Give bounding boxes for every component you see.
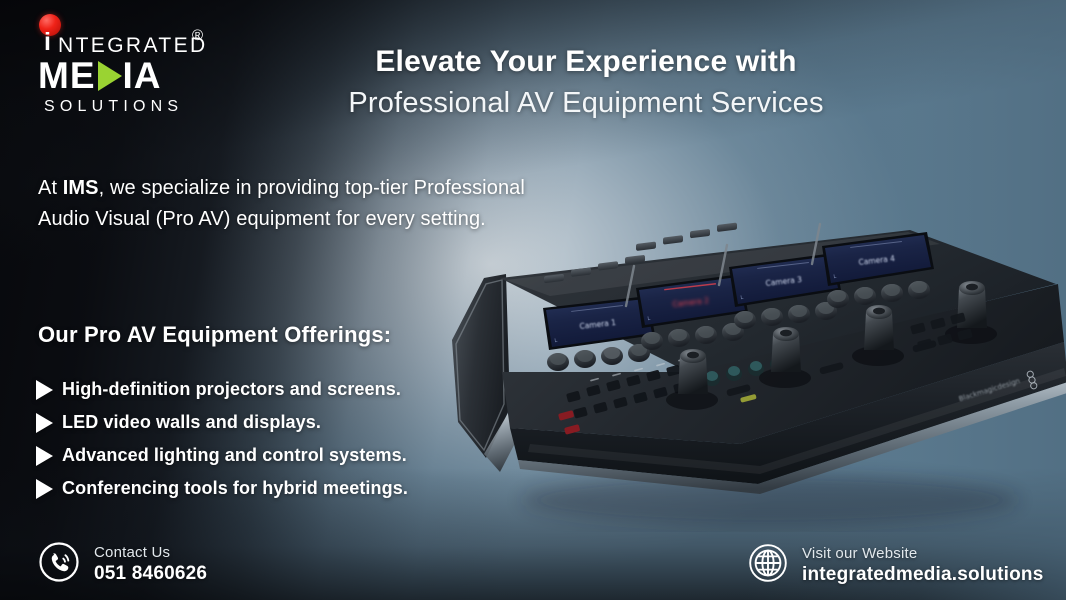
- list-item: LED video walls and displays.: [36, 406, 408, 439]
- list-item-label: LED video walls and displays.: [62, 412, 321, 433]
- logo-line-integrated: i NTEGRATED ®: [30, 16, 210, 50]
- headline-line-2: Professional AV Equipment Services: [286, 83, 886, 123]
- arrow-bullet-icon: [36, 446, 53, 466]
- registered-trademark-icon: ®: [192, 28, 203, 43]
- footer-contact-phone[interactable]: 051 8460626: [94, 562, 207, 586]
- logo-line-media: ME IA: [38, 58, 162, 94]
- offerings-list: High-definition projectors and screens. …: [36, 373, 408, 505]
- arrow-bullet-icon: [36, 380, 53, 400]
- list-item: High-definition projectors and screens.: [36, 373, 408, 406]
- list-item-label: Conferencing tools for hybrid meetings.: [62, 478, 408, 499]
- logo-letter-i: i: [44, 33, 56, 52]
- footer-contact-text: Contact Us 051 8460626: [94, 543, 207, 586]
- headline-line-1: Elevate Your Experience with: [286, 42, 886, 81]
- product-image-av-control-panel: Camera 1 L Camera 2 L: [440, 222, 1066, 532]
- list-item-label: High-definition projectors and screens.: [62, 379, 401, 400]
- arrow-bullet-icon: [36, 413, 53, 433]
- list-item: Conferencing tools for hybrid meetings.: [36, 472, 408, 505]
- intro-paragraph: At IMS, we specialize in providing top-t…: [38, 173, 538, 235]
- logo-word-solutions: SOLUTIONS: [44, 98, 183, 116]
- footer-contact-block[interactable]: Contact Us 051 8460626: [38, 541, 207, 588]
- intro-text-before: At: [38, 177, 63, 199]
- screen-row-buttons-2[interactable]: [636, 223, 737, 251]
- footer-website-block[interactable]: Visit our Website integratedmedia.soluti…: [748, 543, 1043, 588]
- footer-website-text: Visit our Website integratedmedia.soluti…: [802, 544, 1043, 587]
- intro-brand-abbr: IMS: [63, 177, 99, 199]
- headline-block: Elevate Your Experience with Professiona…: [286, 42, 886, 123]
- intro-text-after: , we specialize in providing top-tier Pr…: [38, 177, 525, 230]
- footer-website-url[interactable]: integratedmedia.solutions: [802, 563, 1043, 587]
- footer-website-label: Visit our Website: [802, 544, 1043, 563]
- globe-icon: [748, 543, 788, 588]
- list-item-label: Advanced lighting and control systems.: [62, 445, 407, 466]
- list-item: Advanced lighting and control systems.: [36, 439, 408, 472]
- logo-word-me: ME: [38, 58, 96, 94]
- arrow-bullet-icon: [36, 479, 53, 499]
- phone-icon: [38, 541, 80, 588]
- footer-contact-label: Contact Us: [94, 543, 207, 562]
- offerings-title: Our Pro AV Equipment Offerings:: [38, 322, 391, 348]
- play-triangle-icon: [98, 61, 122, 91]
- marketing-banner: Camera 1 L Camera 2 L: [0, 0, 1066, 600]
- logo-word-ia: IA: [123, 58, 162, 94]
- company-logo[interactable]: i NTEGRATED ® ME IA SOLUTIONS: [30, 16, 210, 116]
